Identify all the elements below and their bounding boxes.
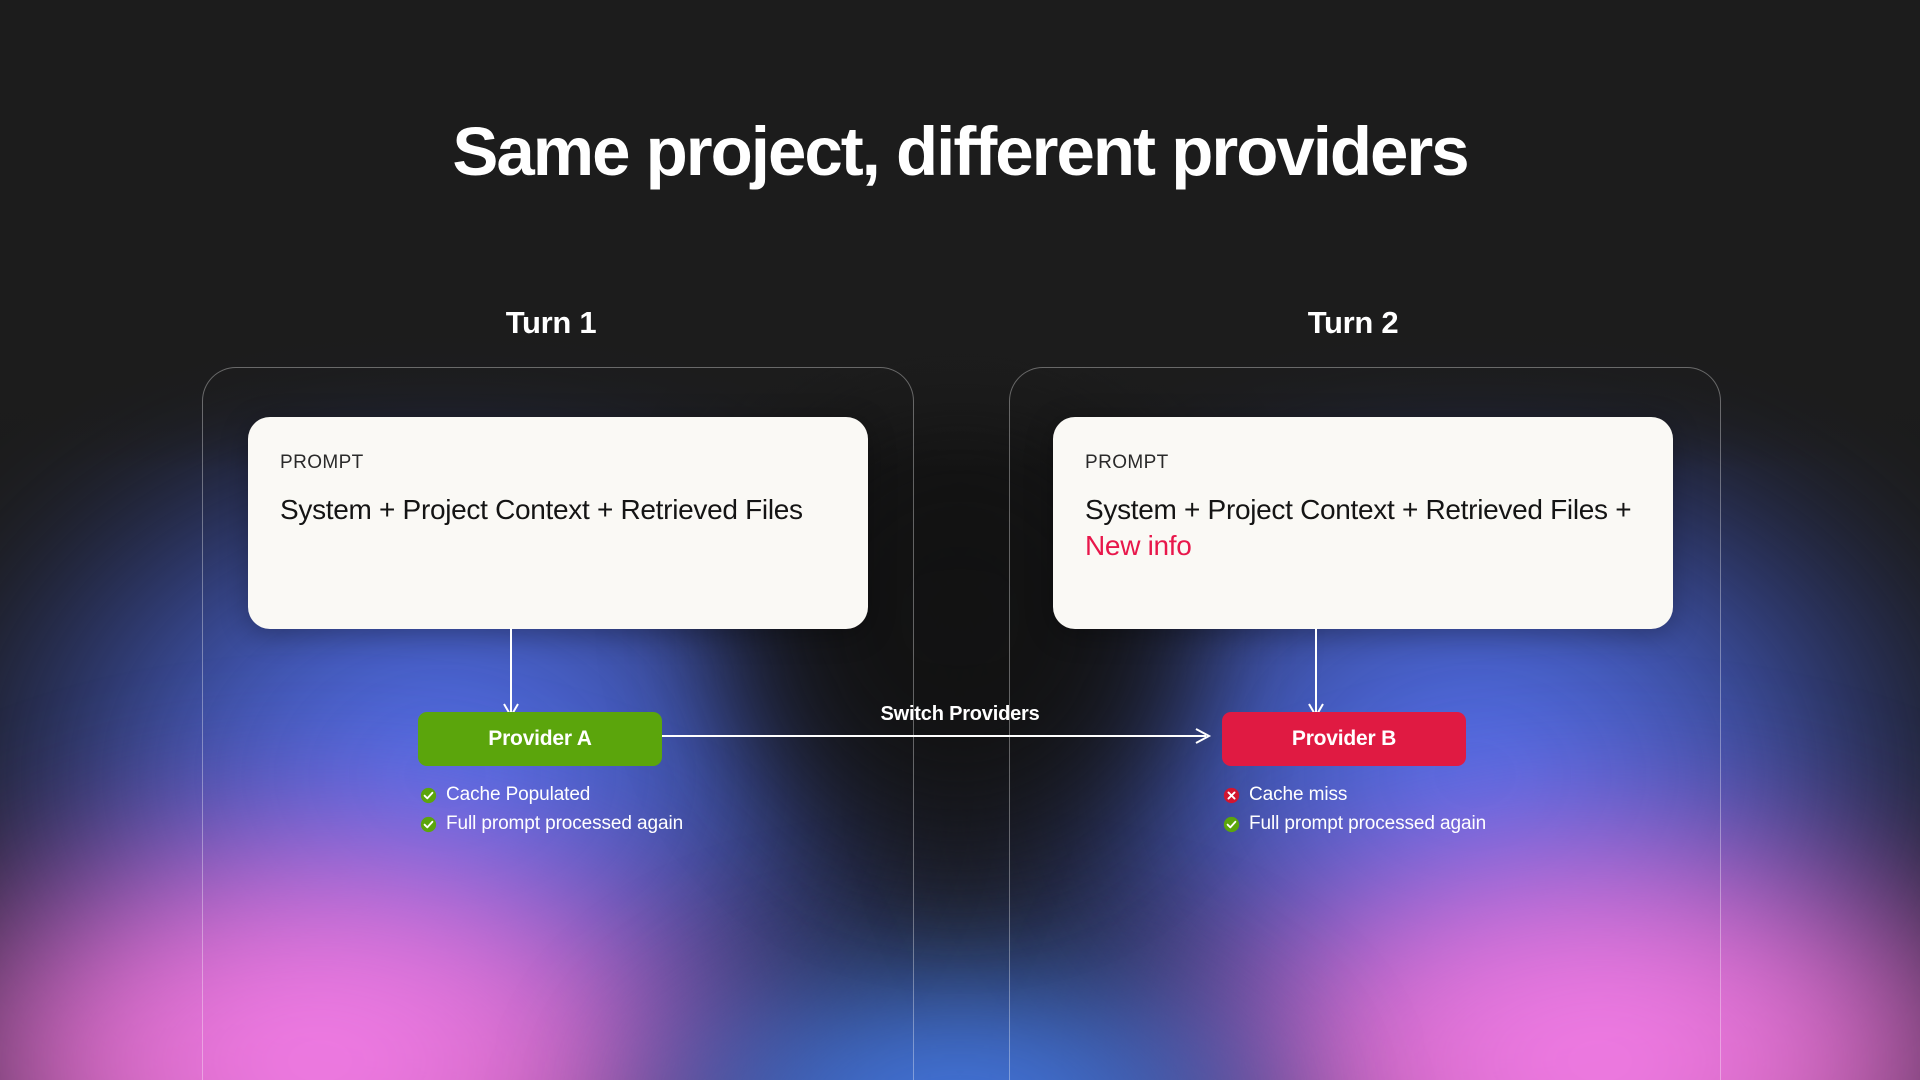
check-circle-icon xyxy=(1223,816,1240,833)
provider-a-pill[interactable]: Provider A xyxy=(418,712,662,766)
prompt-card-turn-1: PROMPT System + Project Context + Retrie… xyxy=(248,417,868,629)
check-circle-icon xyxy=(420,816,437,833)
status-item: Full prompt processed again xyxy=(1223,813,1486,835)
prompt-text-2: System + Project Context + Retrieved Fil… xyxy=(1085,494,1631,525)
status-label: Cache Populated xyxy=(446,784,590,806)
x-circle-icon xyxy=(1223,787,1240,804)
status-item: Cache Populated xyxy=(420,784,683,806)
prompt-kicker-1: PROMPT xyxy=(280,452,836,474)
prompt-kicker-2: PROMPT xyxy=(1085,452,1641,474)
prompt-text-1: System + Project Context + Retrieved Fil… xyxy=(280,494,803,525)
turn-label-2: Turn 2 xyxy=(1203,305,1503,341)
status-label: Full prompt processed again xyxy=(446,813,683,835)
arrow-down-turn-2 xyxy=(1305,628,1327,720)
page-title: Same project, different providers xyxy=(0,112,1920,191)
arrow-switch-providers xyxy=(658,725,1214,747)
prompt-card-turn-2: PROMPT System + Project Context + Retrie… xyxy=(1053,417,1673,629)
prompt-highlight-new-info: New info xyxy=(1085,530,1192,561)
arrow-down-turn-1 xyxy=(500,628,522,720)
status-item: Cache miss xyxy=(1223,784,1486,806)
status-list-provider-b: Cache miss Full prompt processed again xyxy=(1223,784,1486,842)
prompt-body-2: System + Project Context + Retrieved Fil… xyxy=(1085,492,1641,564)
check-circle-icon xyxy=(420,787,437,804)
status-label: Full prompt processed again xyxy=(1249,813,1486,835)
provider-b-label: Provider B xyxy=(1292,727,1396,751)
status-list-provider-a: Cache Populated Full prompt processed ag… xyxy=(420,784,683,842)
provider-b-pill[interactable]: Provider B xyxy=(1222,712,1466,766)
prompt-body-1: System + Project Context + Retrieved Fil… xyxy=(280,492,836,528)
provider-a-label: Provider A xyxy=(488,727,591,751)
turn-label-1: Turn 1 xyxy=(401,305,701,341)
diagram-canvas: Same project, different providers Turn 1… xyxy=(0,0,1920,1080)
switch-providers-label: Switch Providers xyxy=(742,703,1178,726)
status-label: Cache miss xyxy=(1249,784,1347,806)
status-item: Full prompt processed again xyxy=(420,813,683,835)
